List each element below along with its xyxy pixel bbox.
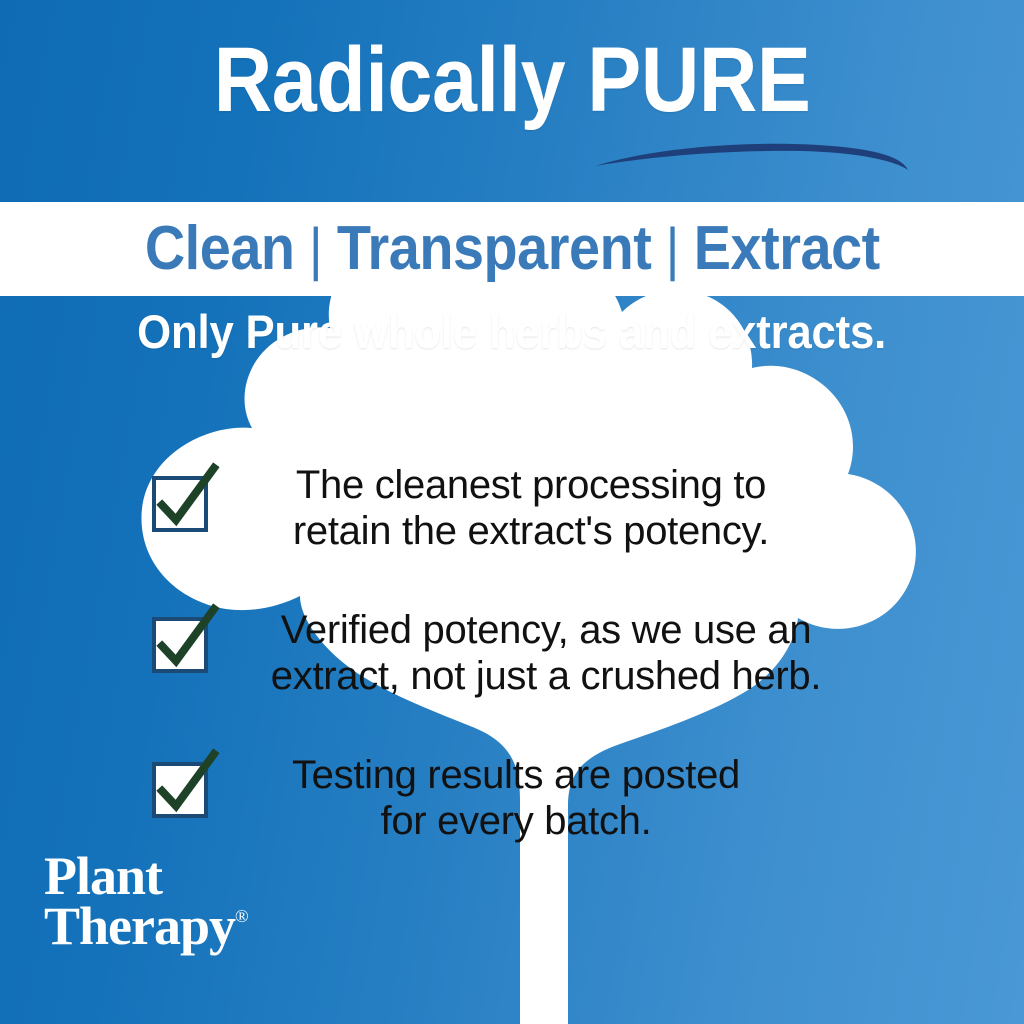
brand-line-therapy-wrap: Therapy® — [44, 901, 249, 952]
headline-text: Radically PURE — [214, 34, 811, 126]
checklist-item-line: The cleanest processing to — [208, 462, 854, 508]
brand-line-plant: Plant — [44, 851, 249, 902]
checklist-item: Testing results are posted for every bat… — [0, 752, 1024, 845]
feature-band: Clean | Transparent | Extract — [0, 202, 1024, 296]
brand-line-therapy: Therapy — [44, 896, 235, 956]
band-word-clean: Clean — [145, 218, 295, 280]
checklist-item-line: retain the extract's potency. — [208, 508, 854, 554]
checklist-item-line: Verified potency, as we use an — [208, 607, 884, 653]
headline: Radically PURE — [0, 34, 1024, 126]
checklist: The cleanest processing to retain the ex… — [0, 462, 1024, 844]
swoosh-underline-icon — [0, 128, 1024, 190]
checklist-item-text: The cleanest processing to retain the ex… — [208, 462, 1024, 555]
band-separator-2: | — [651, 221, 693, 279]
tagline-text: Only Pure whole herbs and extracts. — [138, 308, 887, 355]
checkbox-checked-icon[interactable] — [152, 762, 208, 818]
band-word-transparent: Transparent — [337, 218, 651, 280]
tagline: Only Pure whole herbs and extracts. — [0, 308, 1024, 355]
feature-band-inner: Clean | Transparent | Extract — [145, 218, 880, 280]
registered-trademark-icon: ® — [235, 906, 249, 926]
brand-logo: Plant Therapy® — [44, 851, 249, 953]
poster-canvas: Radically PURE Clean | Transparent | Ext… — [0, 0, 1024, 1024]
checklist-item-line: extract, not just a crushed herb. — [208, 653, 884, 699]
checkbox-checked-icon[interactable] — [152, 476, 208, 532]
band-separator-1: | — [294, 221, 336, 279]
checklist-item: Verified potency, as we use an extract, … — [0, 607, 1024, 700]
band-word-extract: Extract — [693, 218, 879, 280]
checklist-item: The cleanest processing to retain the ex… — [0, 462, 1024, 555]
checklist-item-line: for every batch. — [208, 798, 824, 844]
checkbox-checked-icon[interactable] — [152, 617, 208, 673]
checklist-item-text: Testing results are posted for every bat… — [208, 752, 1024, 845]
checklist-item-line: Testing results are posted — [208, 752, 824, 798]
checklist-item-text: Verified potency, as we use an extract, … — [208, 607, 1024, 700]
